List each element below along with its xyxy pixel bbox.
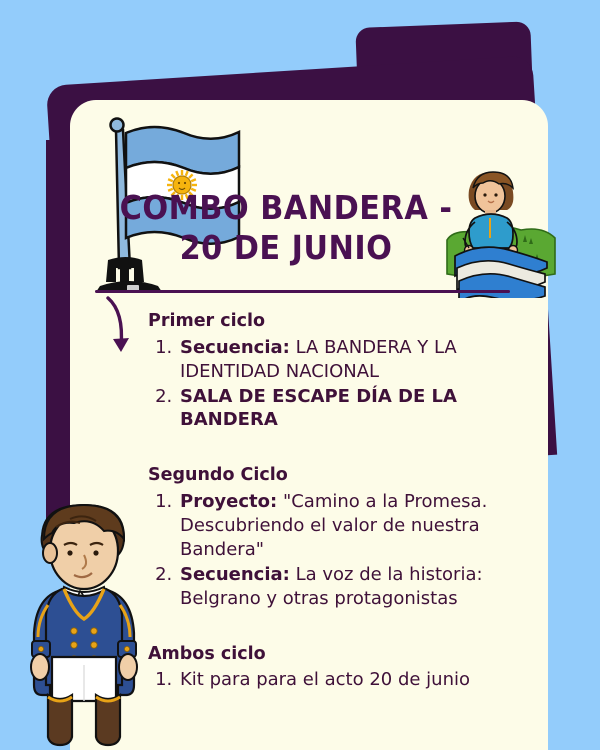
section-ambos-ciclo: Ambos ciclo Kit para para el acto 20 de … [148,643,516,693]
section-items: Kit para para el acto 20 de junio [148,668,516,692]
sections-list: Primer ciclo Secuencia: LA BANDERA Y LA … [148,310,516,706]
list-item-lead: Secuencia: [180,337,290,358]
title-divider [95,290,510,293]
section-heading: Ambos ciclo [148,643,516,667]
list-item: Secuencia: La voz de la historia: Belgra… [178,563,516,611]
list-item: SALA DE ESCAPE DÍA DE LA BANDERA [178,385,516,433]
section-heading: Primer ciclo [148,310,516,334]
belgrano-figure-icon [18,495,152,750]
section-spacer [148,446,516,464]
section-spacer [148,625,516,643]
page-title: COMBO BANDERA - 20 DE JUNIO [96,188,476,269]
list-item-lead: Secuencia: [180,564,290,585]
list-item-text: Kit para para el acto 20 de junio [180,669,470,690]
list-item-lead: Proyecto: [180,491,277,512]
section-heading: Segundo Ciclo [148,464,516,488]
section-items: Secuencia: LA BANDERA Y LA IDENTIDAD NAC… [148,336,516,433]
poster-canvas: COMBO BANDERA - 20 DE JUNIO [0,0,600,750]
woman-sewing-flag-icon [445,168,557,298]
title-line-1: COMBO BANDERA - [111,188,461,228]
section-items: Proyecto: "Camino a la Promesa. Descubri… [148,490,516,611]
list-item: Kit para para el acto 20 de junio [178,668,516,692]
list-item: Proyecto: "Camino a la Promesa. Descubri… [178,490,516,562]
list-item: Secuencia: LA BANDERA Y LA IDENTIDAD NAC… [178,336,516,384]
section-primer-ciclo: Primer ciclo Secuencia: LA BANDERA Y LA … [148,310,516,432]
section-segundo-ciclo: Segundo Ciclo Proyecto: "Camino a la Pro… [148,464,516,610]
list-item-text: SALA DE ESCAPE DÍA DE LA BANDERA [180,386,457,431]
title-line-2: 20 DE JUNIO [111,228,461,268]
